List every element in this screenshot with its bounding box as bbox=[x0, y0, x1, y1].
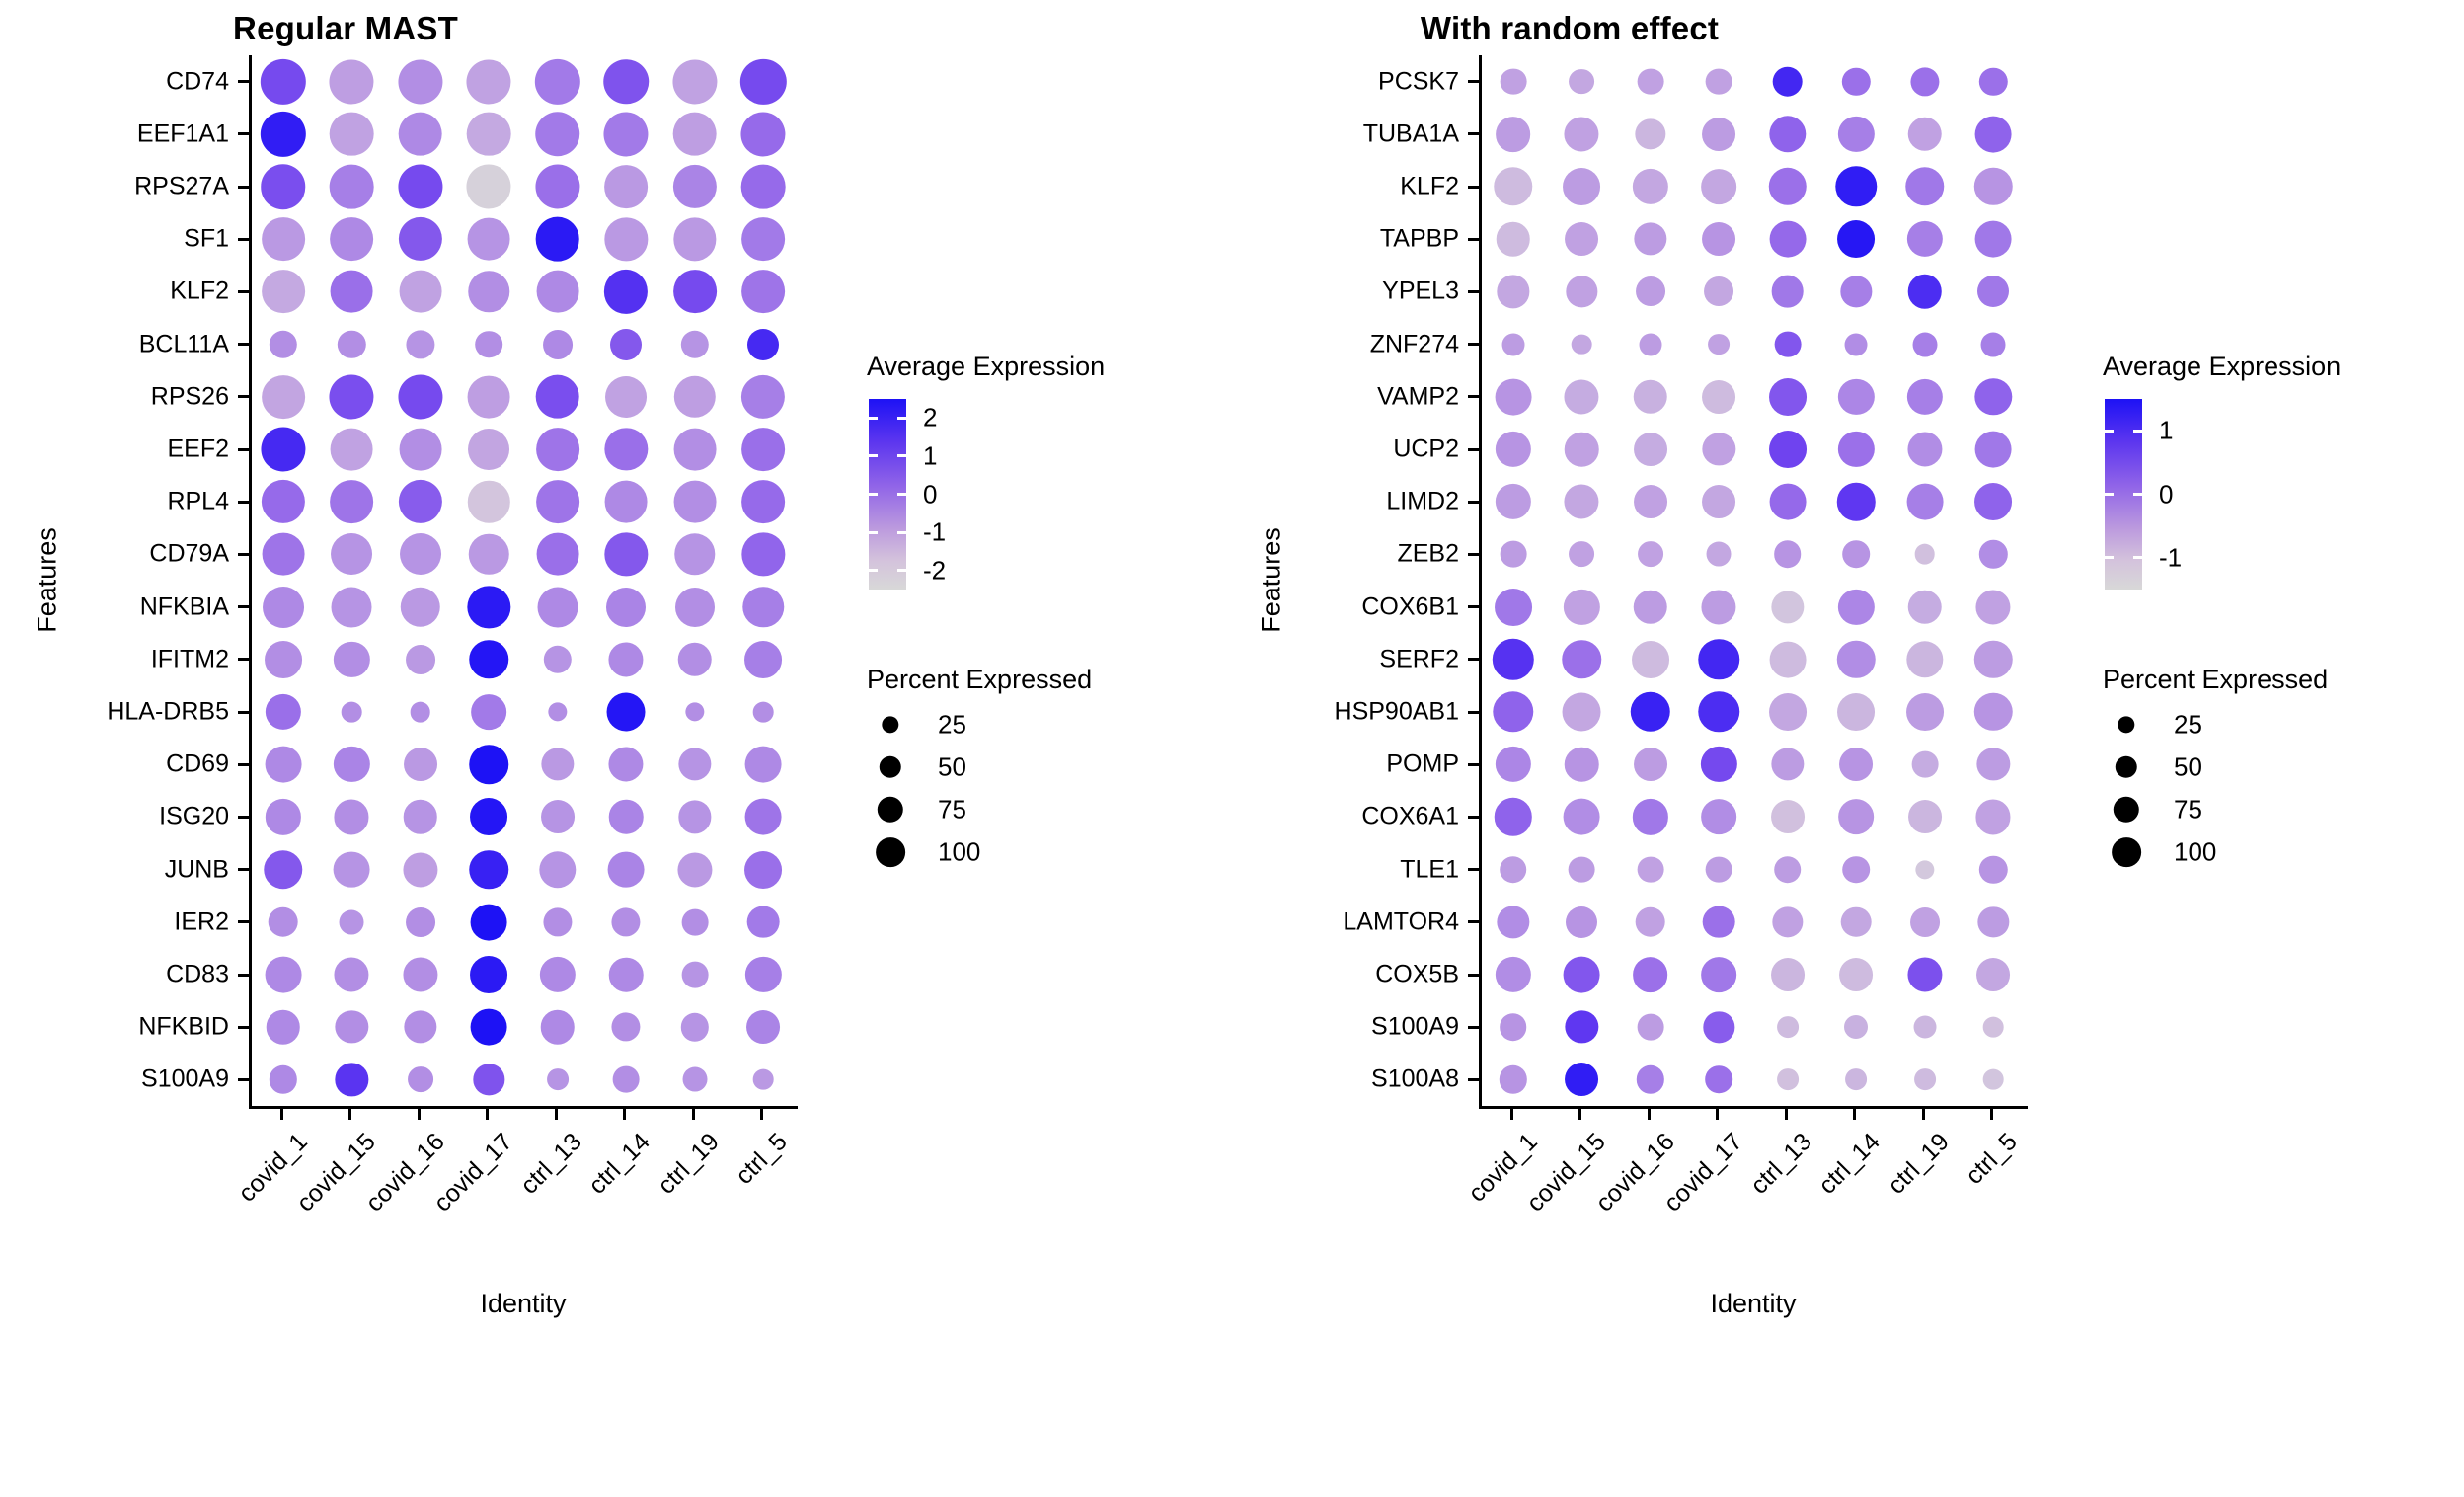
y-axis-tick-label: VAMP2 bbox=[1377, 384, 1459, 409]
y-axis-tick bbox=[1468, 868, 1479, 871]
dot-marker bbox=[468, 429, 509, 470]
dot-marker bbox=[1633, 799, 1668, 834]
dot-marker bbox=[1702, 118, 1735, 151]
y-axis-tick bbox=[238, 553, 249, 556]
dot-marker bbox=[1845, 333, 1868, 355]
dot-marker bbox=[261, 112, 306, 157]
y-axis-tick-label: POMP bbox=[1386, 752, 1459, 777]
y-axis-tick-label: IFITM2 bbox=[151, 647, 229, 671]
dot-marker bbox=[1769, 116, 1806, 152]
dot-marker bbox=[1496, 222, 1530, 257]
dot-marker bbox=[1837, 220, 1875, 258]
x-axis-tick bbox=[1785, 1106, 1788, 1120]
dot-marker bbox=[1842, 856, 1870, 884]
dot-marker bbox=[1838, 589, 1874, 624]
dot-marker bbox=[547, 1068, 569, 1090]
dot-marker bbox=[406, 645, 435, 674]
dot-marker bbox=[1907, 221, 1943, 257]
y-axis-tick bbox=[238, 711, 249, 714]
dot-marker bbox=[548, 702, 567, 721]
dot-marker bbox=[1705, 1066, 1732, 1094]
x-axis-line bbox=[1479, 1106, 2028, 1109]
dot-marker bbox=[1564, 799, 1600, 835]
dot-marker bbox=[1701, 957, 1736, 992]
dot-marker bbox=[1638, 541, 1663, 567]
dot-marker bbox=[1707, 542, 1732, 567]
dot-marker bbox=[1837, 483, 1875, 520]
dot-marker bbox=[539, 851, 576, 888]
dot-marker bbox=[467, 59, 511, 104]
dot-marker bbox=[1837, 693, 1875, 731]
dot-marker bbox=[403, 800, 437, 834]
dot-marker bbox=[470, 745, 508, 783]
x-axis-title: Identity bbox=[1684, 1289, 1822, 1319]
y-axis-tick-label: LIMD2 bbox=[1386, 490, 1459, 514]
color-scale-tick-label: -1 bbox=[923, 517, 946, 548]
dot-marker bbox=[330, 374, 374, 419]
dot-marker bbox=[1633, 957, 1668, 992]
dot-marker bbox=[1702, 590, 1736, 624]
dot-marker bbox=[331, 533, 372, 575]
dot-marker bbox=[535, 112, 580, 157]
dot-marker bbox=[1975, 378, 2012, 415]
y-axis-tick-label: SF1 bbox=[184, 227, 229, 252]
y-axis-tick bbox=[238, 501, 249, 504]
dot-marker bbox=[540, 957, 576, 992]
x-axis-title: Identity bbox=[454, 1289, 592, 1319]
dot-marker bbox=[681, 962, 708, 988]
dot-marker bbox=[1839, 748, 1873, 781]
dot-marker bbox=[335, 957, 369, 991]
dot-marker bbox=[1771, 958, 1805, 991]
dot-marker bbox=[1981, 332, 2006, 356]
dot-marker bbox=[536, 480, 579, 523]
y-axis-tick bbox=[238, 186, 249, 189]
y-axis-tick-label: BCL11A bbox=[139, 332, 229, 356]
dot-marker bbox=[330, 217, 373, 261]
dot-marker bbox=[1565, 379, 1599, 414]
y-axis-tick-label: KLF2 bbox=[1400, 175, 1459, 199]
dot-marker bbox=[1839, 958, 1873, 991]
y-axis-tick bbox=[1468, 816, 1479, 819]
dot-marker bbox=[1769, 641, 1806, 677]
y-axis-tick bbox=[238, 974, 249, 977]
y-axis-tick bbox=[1468, 448, 1479, 451]
dot-marker bbox=[535, 164, 579, 208]
dot-marker bbox=[1637, 1014, 1663, 1041]
y-axis-tick-label: RPS26 bbox=[151, 384, 229, 409]
dot-marker bbox=[332, 587, 372, 627]
dot-marker bbox=[681, 908, 708, 935]
dot-marker bbox=[1907, 275, 1942, 309]
y-axis-tick bbox=[238, 290, 249, 293]
dot-marker bbox=[1500, 856, 1527, 884]
dot-marker bbox=[1907, 118, 1942, 152]
y-axis-tick-label: S100A9 bbox=[141, 1067, 229, 1092]
dot-marker bbox=[1496, 432, 1531, 467]
dot-marker bbox=[1979, 855, 2007, 883]
dot-marker bbox=[470, 956, 507, 993]
y-axis-tick bbox=[1468, 974, 1479, 977]
dot-marker bbox=[468, 481, 509, 522]
dot-marker bbox=[470, 850, 508, 889]
dot-marker bbox=[471, 904, 507, 940]
dot-marker bbox=[1496, 747, 1531, 782]
dot-marker bbox=[471, 1009, 507, 1046]
y-axis-tick bbox=[1468, 553, 1479, 556]
dot-marker bbox=[1910, 67, 1939, 96]
dot-marker bbox=[1838, 800, 1874, 835]
color-scale-tick-label: -1 bbox=[2159, 542, 2182, 573]
dot-marker bbox=[1912, 332, 1937, 356]
dot-marker bbox=[747, 906, 780, 938]
dot-marker bbox=[673, 429, 716, 471]
dot-marker bbox=[330, 480, 373, 523]
size-legend-label: 75 bbox=[938, 795, 966, 826]
y-axis-tick-label: ZNF274 bbox=[1370, 332, 1459, 356]
dot-marker bbox=[1983, 1017, 2004, 1038]
dot-marker bbox=[334, 747, 369, 782]
dot-marker bbox=[336, 1011, 368, 1044]
y-axis-tick bbox=[1468, 132, 1479, 135]
dot-marker bbox=[1702, 380, 1735, 414]
y-axis-tick bbox=[1468, 920, 1479, 923]
dot-marker bbox=[1907, 590, 1942, 624]
color-scale-tick bbox=[897, 417, 906, 420]
y-axis-tick-label: TAPBP bbox=[1380, 227, 1459, 252]
dot-marker bbox=[1772, 66, 1803, 97]
dot-marker bbox=[338, 330, 365, 357]
dot-marker bbox=[1703, 906, 1735, 938]
color-scale-tick bbox=[897, 493, 906, 496]
dot-marker bbox=[262, 480, 305, 523]
panel-random-effect: With random effect PCSK7TUBA1AKLF2TAPBPY… bbox=[1232, 0, 2464, 1327]
dot-marker bbox=[604, 112, 649, 156]
dot-marker bbox=[1914, 544, 1935, 565]
dot-marker bbox=[540, 1010, 575, 1045]
dot-marker bbox=[1563, 640, 1601, 678]
color-scale-tick bbox=[869, 531, 878, 534]
x-axis-tick bbox=[348, 1106, 351, 1120]
dot-marker bbox=[1635, 906, 1665, 937]
y-axis-line bbox=[249, 55, 252, 1106]
panel-title: Regular MAST bbox=[30, 10, 661, 47]
y-axis-tick bbox=[238, 816, 249, 819]
dot-marker bbox=[681, 330, 709, 357]
dotplot-figure: Regular MAST CD74EEF1A1RPS27ASF1KLF2BCL1… bbox=[0, 0, 2464, 1327]
dot-marker bbox=[404, 1011, 436, 1044]
dot-marker bbox=[613, 1066, 640, 1093]
dot-marker bbox=[1637, 856, 1663, 883]
dot-marker bbox=[741, 375, 785, 419]
y-axis-tick-label: CD74 bbox=[166, 69, 229, 94]
dot-marker bbox=[741, 165, 786, 209]
y-axis-tick bbox=[1468, 763, 1479, 766]
dot-marker bbox=[682, 1067, 707, 1092]
color-scale-tick-label: 1 bbox=[2159, 416, 2173, 446]
y-axis-tick-label: JUNB bbox=[165, 857, 229, 882]
dot-marker bbox=[398, 112, 442, 156]
size-legend-label: 50 bbox=[2174, 752, 2202, 783]
dot-marker bbox=[1699, 639, 1739, 679]
dot-marker bbox=[1836, 166, 1877, 206]
dot-marker bbox=[1911, 751, 1938, 778]
size-legend-title: Percent Expressed bbox=[867, 665, 1092, 695]
x-axis-tick bbox=[486, 1106, 489, 1120]
y-axis-tick bbox=[1468, 658, 1479, 661]
dot-marker bbox=[261, 164, 306, 209]
dot-marker bbox=[535, 58, 580, 104]
y-axis-tick bbox=[238, 1078, 249, 1081]
y-axis-tick bbox=[238, 448, 249, 451]
dot-marker bbox=[1563, 168, 1600, 205]
dot-marker bbox=[1841, 906, 1872, 937]
dot-marker bbox=[1636, 276, 1665, 306]
dot-marker bbox=[266, 694, 301, 730]
dot-marker bbox=[1769, 431, 1807, 468]
y-axis-tick-label: KLF2 bbox=[170, 279, 229, 304]
color-legend-title: Average Expression bbox=[2103, 352, 2341, 382]
dot-marker bbox=[741, 217, 785, 261]
dot-marker bbox=[1842, 541, 1870, 569]
dot-marker bbox=[1631, 692, 1670, 732]
dot-marker bbox=[1907, 432, 1942, 466]
y-axis-line bbox=[1479, 55, 1482, 1106]
dot-marker bbox=[1564, 589, 1599, 624]
dot-marker bbox=[1706, 68, 1732, 95]
dot-marker bbox=[1974, 641, 2012, 678]
x-axis-tick bbox=[1578, 1106, 1581, 1120]
y-axis-tick bbox=[238, 763, 249, 766]
dot-marker bbox=[541, 800, 575, 833]
plot-area: CD74EEF1A1RPS27ASF1KLF2BCL11ARPS26EEF2RP… bbox=[249, 55, 798, 1106]
dot-marker bbox=[475, 331, 502, 358]
plot-area: PCSK7TUBA1AKLF2TAPBPYPEL3ZNF274VAMP2UCP2… bbox=[1479, 55, 2028, 1106]
dot-marker bbox=[745, 799, 782, 835]
y-axis-tick bbox=[1468, 501, 1479, 504]
x-axis-tick bbox=[1716, 1106, 1719, 1120]
color-scale-tick bbox=[869, 417, 878, 420]
dot-marker bbox=[678, 801, 711, 833]
dot-marker bbox=[1497, 276, 1529, 308]
dot-marker bbox=[331, 271, 373, 313]
y-axis-tick bbox=[238, 132, 249, 135]
dot-marker bbox=[612, 1013, 641, 1042]
y-axis-tick bbox=[1468, 238, 1479, 241]
y-axis-tick-label: HLA-DRB5 bbox=[107, 700, 229, 725]
dot-marker bbox=[1703, 433, 1735, 465]
size-legend-label: 50 bbox=[938, 752, 966, 783]
dot-marker bbox=[471, 694, 506, 730]
dot-marker bbox=[1913, 1016, 1936, 1039]
dot-marker bbox=[1494, 167, 1532, 205]
dot-marker bbox=[1976, 958, 2010, 991]
dot-marker bbox=[404, 748, 437, 781]
dot-marker bbox=[608, 851, 645, 888]
dot-marker bbox=[1977, 748, 2010, 781]
dot-marker bbox=[265, 747, 301, 783]
dot-marker bbox=[1572, 334, 1592, 355]
dot-marker bbox=[400, 533, 441, 575]
dot-marker bbox=[537, 587, 577, 627]
dot-marker bbox=[263, 587, 304, 628]
dot-marker bbox=[470, 640, 508, 678]
dot-marker bbox=[609, 800, 644, 834]
size-legend-dot bbox=[878, 797, 903, 823]
y-axis-title: Features bbox=[1257, 512, 1287, 650]
y-axis-title: Features bbox=[33, 512, 63, 650]
dot-marker bbox=[469, 272, 509, 312]
y-axis-tick-label: SERF2 bbox=[1379, 647, 1459, 671]
dot-marker bbox=[747, 329, 779, 360]
dot-marker bbox=[1905, 167, 1944, 205]
dot-marker bbox=[1708, 334, 1730, 355]
y-axis-tick-label: TLE1 bbox=[1400, 857, 1459, 882]
size-legend-label: 100 bbox=[2174, 837, 2216, 868]
color-scale-tick-label: 0 bbox=[923, 479, 937, 510]
y-axis-tick bbox=[238, 80, 249, 83]
dot-marker bbox=[741, 271, 785, 314]
y-axis-tick-label: PCSK7 bbox=[1378, 69, 1459, 94]
y-axis-tick-label: CD79A bbox=[149, 542, 229, 567]
y-axis-tick bbox=[238, 920, 249, 923]
dot-marker bbox=[330, 59, 374, 104]
dot-marker bbox=[1978, 906, 2009, 937]
dot-marker bbox=[607, 693, 646, 732]
dot-marker bbox=[543, 330, 573, 359]
dot-marker bbox=[1569, 541, 1594, 567]
dot-marker bbox=[403, 957, 437, 991]
dot-marker bbox=[1977, 276, 2009, 307]
dot-marker bbox=[1975, 116, 2012, 152]
dot-marker bbox=[606, 588, 646, 627]
y-axis-tick-label: IER2 bbox=[174, 909, 229, 934]
dot-marker bbox=[1497, 906, 1529, 938]
dot-marker bbox=[1704, 276, 1733, 306]
dot-marker bbox=[399, 429, 441, 471]
x-axis-tick bbox=[280, 1106, 283, 1120]
dot-marker bbox=[335, 800, 369, 834]
dot-marker bbox=[1769, 484, 1806, 520]
dot-marker bbox=[1915, 860, 1934, 879]
dot-marker bbox=[1777, 1068, 1799, 1090]
y-axis-tick-label: ZEB2 bbox=[1397, 542, 1459, 567]
dot-marker bbox=[1633, 169, 1668, 204]
dot-marker bbox=[262, 271, 305, 314]
x-axis-tick bbox=[418, 1106, 421, 1120]
dot-marker bbox=[536, 533, 578, 576]
dot-marker bbox=[612, 907, 641, 936]
color-scale-tick bbox=[2105, 430, 2114, 433]
dot-marker bbox=[1634, 748, 1667, 781]
dot-marker bbox=[605, 376, 647, 418]
y-axis-tick bbox=[1468, 395, 1479, 398]
y-axis-tick bbox=[1468, 711, 1479, 714]
y-axis-tick bbox=[238, 868, 249, 871]
dot-marker bbox=[544, 646, 572, 673]
dot-marker bbox=[741, 112, 786, 156]
dot-marker bbox=[1634, 485, 1667, 518]
dot-marker bbox=[1838, 117, 1874, 152]
dot-marker bbox=[403, 852, 437, 887]
dot-marker bbox=[740, 58, 786, 104]
dot-marker bbox=[1565, 748, 1599, 782]
dot-marker bbox=[331, 429, 373, 471]
dot-marker bbox=[1496, 957, 1531, 992]
dot-marker bbox=[330, 165, 374, 209]
dot-marker bbox=[1704, 1012, 1734, 1043]
y-axis-tick bbox=[1468, 343, 1479, 346]
panel-title: With random effect bbox=[1254, 10, 1886, 47]
size-legend-label: 75 bbox=[2174, 795, 2202, 826]
dot-marker bbox=[266, 799, 301, 834]
y-axis-tick bbox=[1468, 290, 1479, 293]
dot-marker bbox=[406, 330, 434, 358]
dot-marker bbox=[1774, 331, 1801, 357]
dot-marker bbox=[340, 909, 364, 934]
color-scale-tick bbox=[2105, 556, 2114, 559]
dot-marker bbox=[1564, 957, 1600, 993]
dot-marker bbox=[1774, 541, 1802, 569]
dot-marker bbox=[672, 112, 717, 156]
dot-marker bbox=[1496, 117, 1531, 152]
legend: Average Expression210-1-2Percent Express… bbox=[867, 352, 1262, 944]
dot-marker bbox=[541, 748, 574, 781]
color-scale-tick bbox=[869, 454, 878, 457]
color-scale-tick-label: 1 bbox=[923, 440, 937, 471]
dot-marker bbox=[268, 906, 298, 937]
dot-marker bbox=[1906, 641, 1943, 677]
dot-marker bbox=[535, 217, 579, 262]
dot-marker bbox=[1771, 800, 1805, 833]
dot-marker bbox=[753, 702, 774, 723]
y-axis-tick-label: NFKBIA bbox=[140, 594, 229, 619]
dot-marker bbox=[536, 428, 579, 471]
dot-marker bbox=[406, 907, 435, 937]
dot-marker bbox=[1495, 378, 1531, 415]
dot-marker bbox=[1699, 691, 1739, 732]
dot-marker bbox=[1906, 484, 1943, 520]
dot-marker bbox=[675, 588, 715, 627]
dot-marker bbox=[1701, 800, 1736, 835]
dot-marker bbox=[468, 586, 510, 628]
dot-marker bbox=[262, 533, 304, 576]
color-scale-tick bbox=[869, 493, 878, 496]
dot-marker bbox=[677, 643, 712, 677]
size-legend-dot bbox=[2114, 797, 2139, 823]
dot-marker bbox=[673, 165, 717, 208]
dot-marker bbox=[1771, 591, 1804, 623]
dot-marker bbox=[410, 702, 430, 723]
color-legend-title: Average Expression bbox=[867, 352, 1105, 382]
dot-marker bbox=[609, 958, 644, 992]
dot-marker bbox=[398, 164, 442, 208]
y-axis-tick bbox=[1468, 605, 1479, 608]
y-axis-tick-label: YPEL3 bbox=[1382, 279, 1459, 304]
dot-marker bbox=[474, 1064, 504, 1095]
dot-marker bbox=[264, 850, 302, 889]
dot-marker bbox=[401, 587, 440, 626]
dot-marker bbox=[1701, 747, 1736, 782]
x-axis-tick bbox=[1510, 1106, 1513, 1120]
dot-marker bbox=[681, 1013, 709, 1041]
dot-marker bbox=[1979, 67, 2007, 95]
dot-marker bbox=[330, 112, 374, 156]
dot-marker bbox=[1706, 856, 1732, 883]
y-axis-tick bbox=[1468, 1078, 1479, 1081]
dot-marker bbox=[605, 218, 648, 261]
dot-marker bbox=[1565, 433, 1599, 467]
